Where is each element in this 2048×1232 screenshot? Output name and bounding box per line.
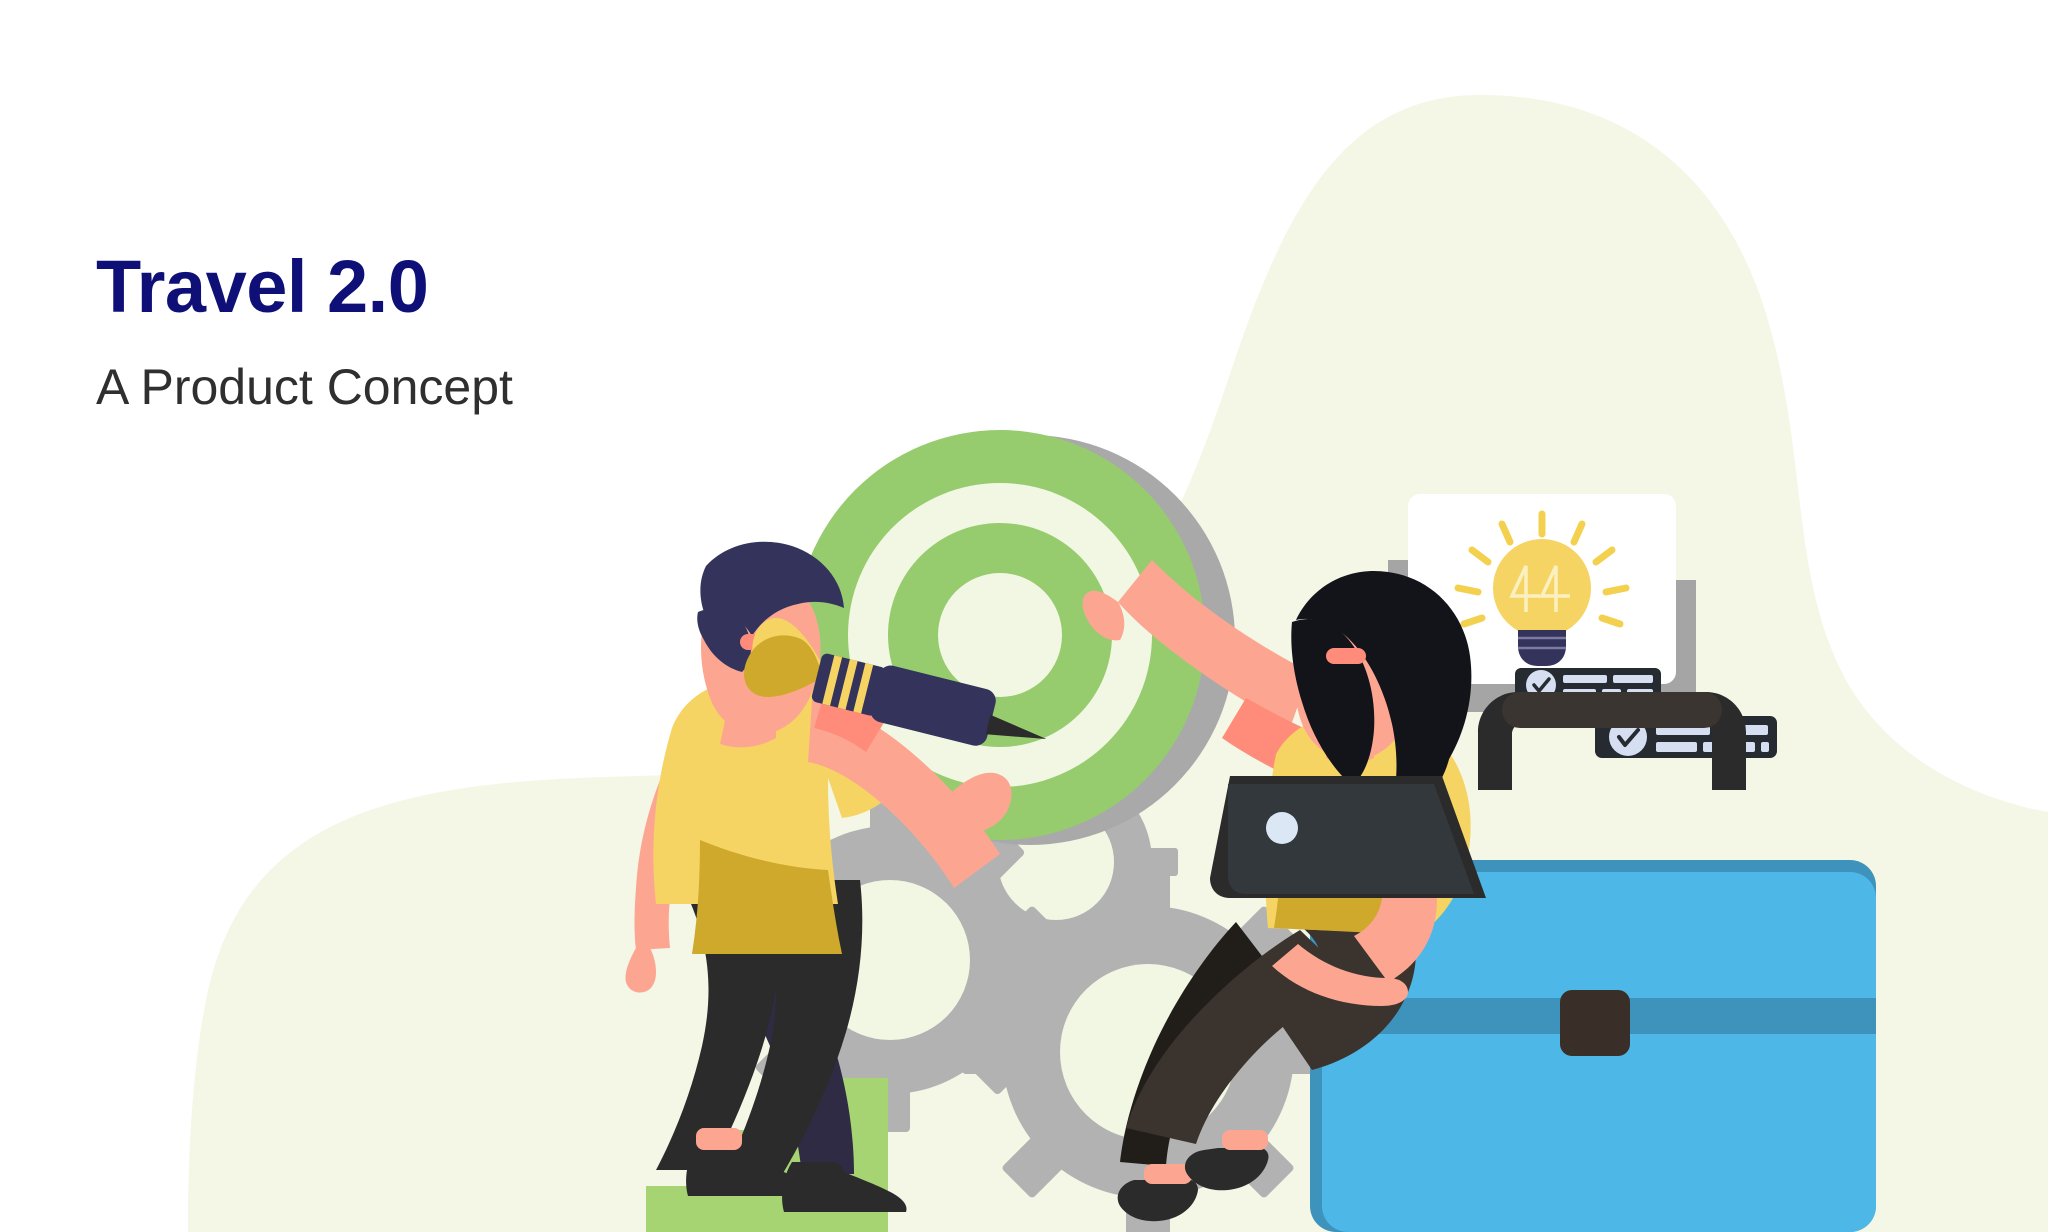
page-subtitle: A Product Concept [96,360,513,415]
briefcase-clasp [1560,990,1630,1056]
page-title: Travel 2.0 [96,248,513,326]
laptop [1210,776,1486,898]
woman-shoe-back [1118,1180,1198,1221]
headline-block: Travel 2.0 A Product Concept [96,248,513,415]
team-goal-illustration [0,0,2048,1232]
slide-canvas: Travel 2.0 A Product Concept [0,0,2048,1232]
laptop-logo [1266,812,1298,844]
